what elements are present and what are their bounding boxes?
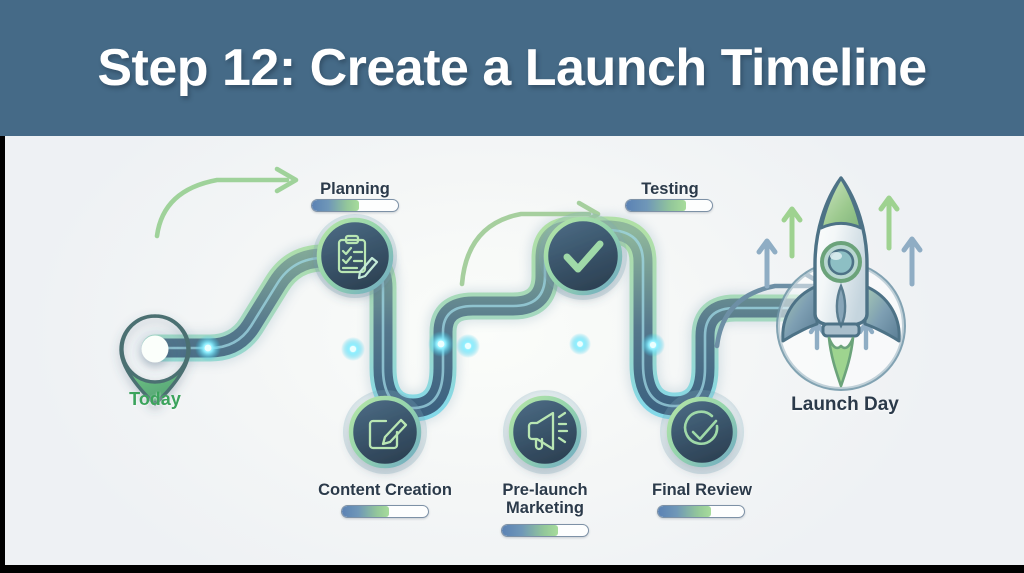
left-edge-bar [0, 136, 5, 565]
progress-bar-testing[interactable] [625, 199, 713, 212]
arrow-1-icon [157, 169, 296, 236]
progress-bar-planning[interactable] [311, 199, 399, 212]
end-marker-label: Launch Day [775, 394, 915, 415]
slide-header-bar: Step 12: Create a Launch Timeline [0, 0, 1024, 136]
milestone-node-pre-launch-marketing[interactable] [503, 390, 587, 474]
milestone-node-content-creation[interactable] [343, 390, 427, 474]
progress-fill-final-review [658, 506, 711, 517]
progress-bar-final-review[interactable] [657, 505, 745, 518]
progress-fill-content-creation [342, 506, 389, 517]
milestone-label-planning: Planning [285, 180, 425, 198]
milestone-node-planning[interactable] [313, 214, 397, 298]
milestone-label-pre-launch-marketing: Pre-launch Marketing [475, 481, 615, 518]
rocket-nose-cone [821, 178, 861, 228]
start-marker-label: Today [100, 389, 210, 409]
milestone-label-content-creation: Content Creation [305, 481, 465, 499]
timeline-diagram: Today Planning Testing Content Creation … [5, 136, 1024, 565]
progress-fill-testing [626, 200, 686, 211]
progress-bar-pre-launch-marketing[interactable] [501, 524, 589, 537]
progress-fill-planning [312, 200, 359, 211]
milestone-label-final-review: Final Review [632, 481, 772, 499]
page-title: Step 12: Create a Launch Timeline [97, 38, 926, 98]
progress-bar-content-creation[interactable] [341, 505, 429, 518]
milestone-node-final-review[interactable] [660, 390, 744, 474]
timeline-road-path [155, 230, 797, 408]
bottom-edge-bar [0, 565, 1024, 573]
progress-fill-pre-launch-marketing [502, 525, 558, 536]
slide-root: Step 12: Create a Launch Timeline [0, 0, 1024, 573]
milestone-node-testing[interactable] [539, 212, 627, 300]
milestone-label-testing: Testing [600, 180, 740, 198]
launch-day-rocket-icon[interactable] [759, 178, 920, 389]
